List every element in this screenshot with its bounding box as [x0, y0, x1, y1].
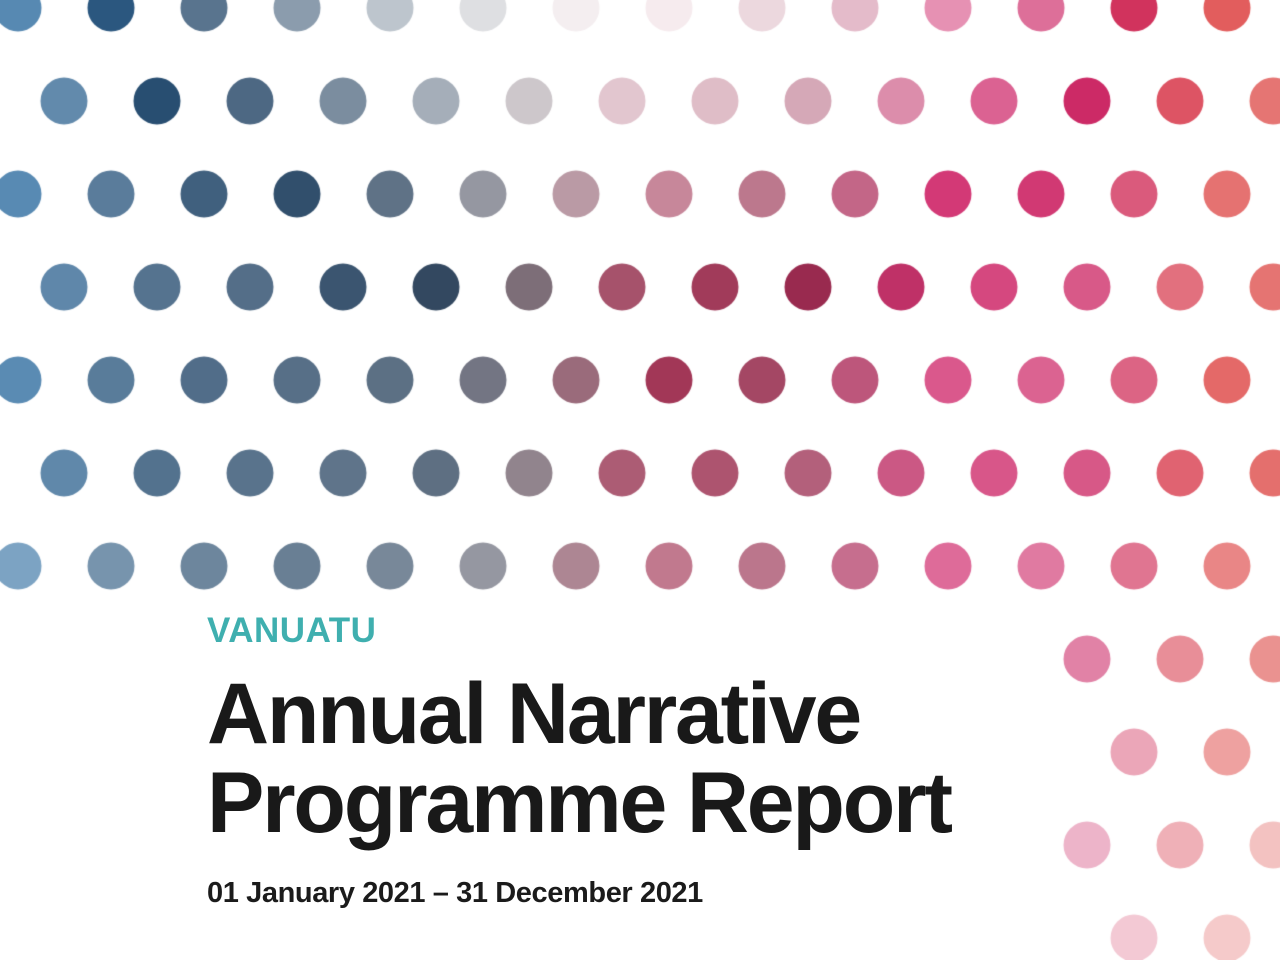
reporting-period: 01 January 2021 – 31 December 2021	[207, 879, 1107, 908]
report-cover-page: VANUATU Annual Narrative Programme Repor…	[0, 0, 1280, 960]
title-block: VANUATU Annual Narrative Programme Repor…	[207, 613, 1107, 908]
page-title: Annual Narrative Programme Report	[207, 670, 1107, 849]
country-eyebrow: VANUATU	[207, 613, 1107, 648]
